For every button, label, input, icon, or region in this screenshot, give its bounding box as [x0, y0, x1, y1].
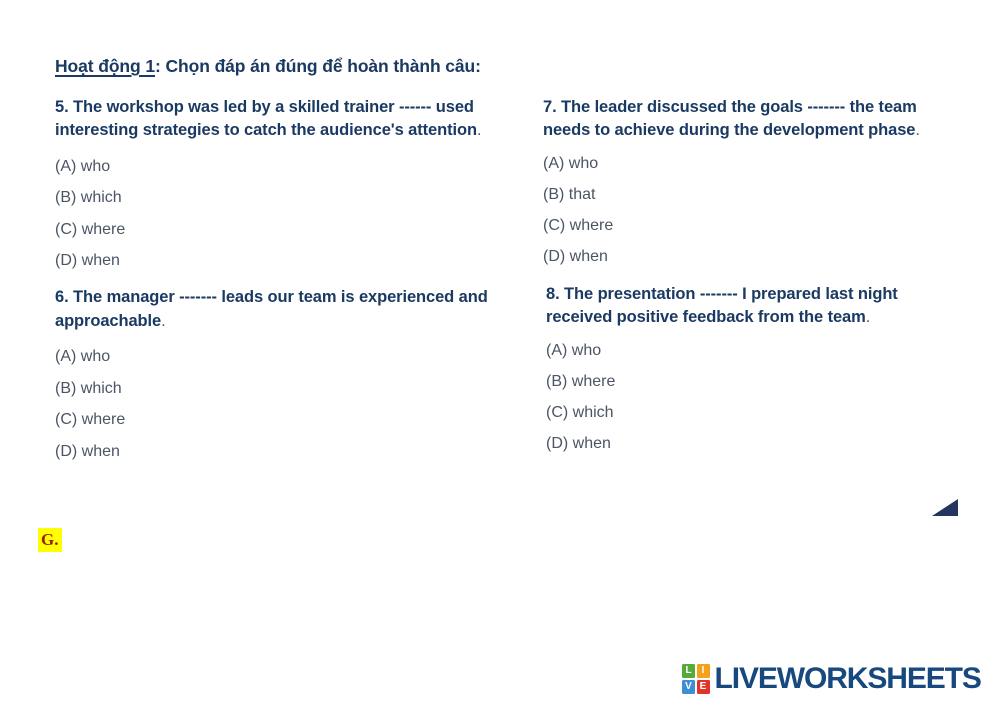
option-list-6: (A) who (B) which (C) where (D) when: [55, 349, 525, 460]
question-stem-5-period: .: [477, 121, 481, 139]
question-block-5: 5. The workshop was led by a skilled tra…: [55, 96, 525, 269]
option-5-c[interactable]: (C) where: [55, 222, 525, 238]
activity-heading: Hoạt động 1: Chọn đáp án đúng để hoàn th…: [55, 56, 481, 77]
question-stem-6-text: 6. The manager ------- leads our team is…: [55, 288, 488, 329]
option-8-a[interactable]: (A) who: [546, 343, 963, 359]
option-6-b[interactable]: (B) which: [55, 381, 525, 397]
question-stem-7: 7. The leader discussed the goals ------…: [543, 96, 963, 143]
question-column-right: 7. The leader discussed the goals ------…: [543, 96, 963, 467]
question-column-left: 5. The workshop was led by a skilled tra…: [55, 96, 525, 475]
question-stem-7-period: .: [915, 121, 919, 139]
option-6-d[interactable]: (D) when: [55, 444, 525, 460]
question-stem-5: 5. The workshop was led by a skilled tra…: [55, 96, 525, 143]
option-6-c[interactable]: (C) where: [55, 412, 525, 428]
option-8-d[interactable]: (D) when: [546, 436, 963, 452]
option-7-d[interactable]: (D) when: [543, 249, 963, 265]
question-stem-7-text: 7. The leader discussed the goals ------…: [543, 98, 917, 139]
option-6-a[interactable]: (A) who: [55, 349, 525, 365]
logo-tile-l-icon: L: [682, 664, 695, 678]
option-list-8: (A) who (B) where (C) which (D) when: [546, 343, 963, 452]
question-block-7: 7. The leader discussed the goals ------…: [543, 96, 963, 265]
activity-heading-rest: : Chọn đáp án đúng để hoàn thành câu:: [155, 56, 481, 76]
logo-tile-grid: L I V E: [682, 664, 710, 694]
section-marker-g: G.: [38, 528, 62, 552]
question-stem-8-text: 8. The presentation ------- I prepared l…: [546, 285, 898, 326]
option-7-c[interactable]: (C) where: [543, 218, 963, 234]
option-list-5: (A) who (B) which (C) where (D) when: [55, 159, 525, 270]
question-stem-8: 8. The presentation ------- I prepared l…: [546, 283, 963, 330]
logo-tile-v-icon: V: [682, 680, 695, 694]
logo-wordmark: LIVEWORKSHEETS: [715, 664, 981, 694]
option-5-a[interactable]: (A) who: [55, 159, 525, 175]
logo-tile-e-icon: E: [697, 680, 710, 694]
question-block-8: 8. The presentation ------- I prepared l…: [543, 283, 963, 452]
decorative-wedge-icon: [928, 497, 958, 516]
option-7-a[interactable]: (A) who: [543, 156, 963, 172]
option-5-d[interactable]: (D) when: [55, 253, 525, 269]
question-block-6: 6. The manager ------- leads our team is…: [55, 286, 525, 459]
question-stem-5-text: 5. The workshop was led by a skilled tra…: [55, 98, 477, 139]
option-8-c[interactable]: (C) which: [546, 405, 963, 421]
option-5-b[interactable]: (B) which: [55, 190, 525, 206]
question-stem-8-period: .: [866, 308, 870, 326]
activity-heading-underlined: Hoạt động 1: [55, 56, 155, 76]
option-7-b[interactable]: (B) that: [543, 187, 963, 203]
question-stem-6-period: .: [161, 312, 165, 330]
liveworksheets-logo: L I V E LIVEWORKSHEETS: [682, 664, 981, 694]
option-list-7: (A) who (B) that (C) where (D) when: [543, 156, 963, 265]
worksheet-page: Hoạt động 1: Chọn đáp án đúng để hoàn th…: [0, 0, 999, 706]
question-stem-6: 6. The manager ------- leads our team is…: [55, 286, 525, 333]
option-8-b[interactable]: (B) where: [546, 374, 963, 390]
logo-tile-i-icon: I: [697, 664, 710, 678]
